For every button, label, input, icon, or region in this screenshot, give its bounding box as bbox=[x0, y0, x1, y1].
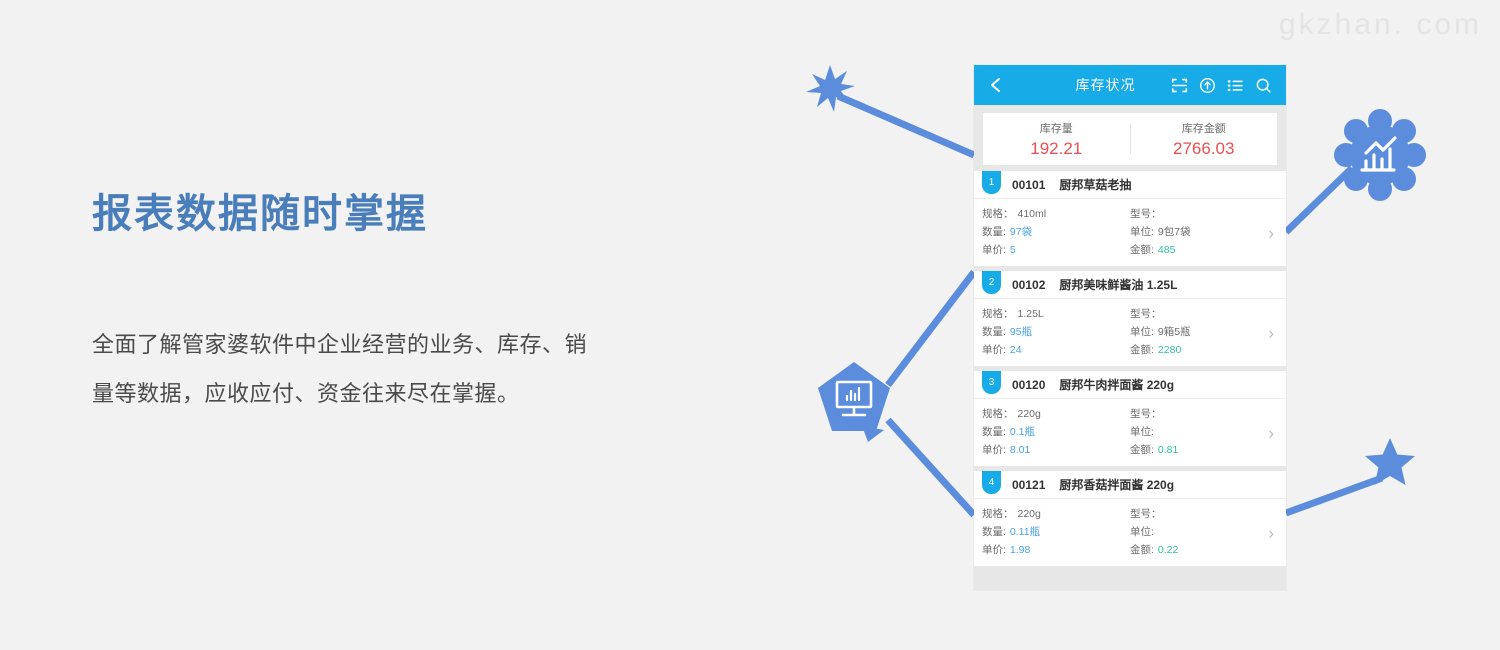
field-amount: 金额: 0.22 bbox=[1130, 541, 1278, 559]
field-qty: 数量: 97袋 bbox=[982, 223, 1130, 241]
field-spec: 规格： 220g bbox=[982, 405, 1130, 423]
field-label: 型号： bbox=[1130, 405, 1162, 423]
field-label: 单价: bbox=[982, 341, 1006, 359]
item-row-price: 单价: 24 金额: 2280 bbox=[982, 341, 1278, 359]
item-header: 4 00121 厨邦香菇拌面酱 220g bbox=[974, 471, 1286, 499]
field-label: 金额: bbox=[1130, 241, 1154, 259]
field-amount: 金额: 0.81 bbox=[1130, 441, 1278, 459]
field-label: 单价: bbox=[982, 241, 1006, 259]
connector-line-upper bbox=[888, 272, 974, 385]
chevron-right-icon[interactable]: › bbox=[1268, 324, 1274, 341]
field-value: 24 bbox=[1010, 341, 1022, 359]
page-description: 全面了解管家婆软件中企业经营的业务、库存、销量等数据，应收应付、资金往来尽在掌握… bbox=[92, 320, 592, 418]
item-body: 规格： 220g 型号： 数量: 0.11瓶 bbox=[974, 499, 1286, 566]
list-icon[interactable] bbox=[1227, 77, 1244, 94]
field-value: 220g bbox=[1018, 505, 1041, 523]
chevron-right-icon[interactable]: › bbox=[1268, 424, 1274, 441]
header-icon-group bbox=[1171, 77, 1272, 94]
field-label: 金额: bbox=[1130, 341, 1154, 359]
field-amount: 金额: 485 bbox=[1130, 241, 1278, 259]
site-watermark: gkzhan. com bbox=[1279, 8, 1482, 42]
item-row-qty: 数量: 0.11瓶 单位: bbox=[982, 523, 1278, 541]
field-value: 1.25L bbox=[1018, 305, 1044, 323]
field-model: 型号： bbox=[1130, 305, 1278, 323]
field-value: 485 bbox=[1158, 241, 1176, 259]
stat-value: 2766.03 bbox=[1131, 139, 1278, 159]
item-row-qty: 数量: 95瓶 单位: 9箱5瓶 bbox=[982, 323, 1278, 341]
field-value: 9包7袋 bbox=[1158, 223, 1191, 241]
field-model: 型号： bbox=[1130, 205, 1278, 223]
field-price: 单价: 1.98 bbox=[982, 541, 1130, 559]
field-value: 0.81 bbox=[1158, 441, 1178, 459]
item-body: 规格： 220g 型号： 数量: 0.1瓶 bbox=[974, 399, 1286, 466]
field-label: 单位: bbox=[1130, 423, 1154, 441]
item-row-qty: 数量: 97袋 单位: 9包7袋 bbox=[982, 223, 1278, 241]
item-row-price: 单价: 1.98 金额: 0.22 bbox=[982, 541, 1278, 559]
field-value: 5 bbox=[1010, 241, 1016, 259]
field-label: 金额: bbox=[1130, 441, 1154, 459]
field-price: 单价: 24 bbox=[982, 341, 1130, 359]
field-label: 数量: bbox=[982, 523, 1006, 541]
inventory-list: 1 00101 厨邦草菇老抽 规格： 410ml 型号： bbox=[974, 171, 1286, 590]
field-qty: 数量: 0.11瓶 bbox=[982, 523, 1130, 541]
stat-stock-amount: 库存金额 2766.03 bbox=[1131, 120, 1278, 159]
item-name: 厨邦香菇拌面酱 220g bbox=[1059, 476, 1174, 493]
item-code: 00120 bbox=[1012, 378, 1045, 392]
item-code: 00101 bbox=[1012, 178, 1045, 192]
item-index-badge: 4 bbox=[982, 471, 1001, 494]
item-body: 规格： 410ml 型号： 数量: 97袋 bbox=[974, 199, 1286, 266]
list-item[interactable]: 4 00121 厨邦香菇拌面酱 220g 规格： 220g 型号： bbox=[974, 471, 1286, 566]
item-name: 厨邦美味鲜酱油 1.25L bbox=[1059, 276, 1177, 293]
field-spec: 规格： 1.25L bbox=[982, 305, 1130, 323]
field-value: 220g bbox=[1018, 405, 1041, 423]
field-unit: 单位: bbox=[1130, 523, 1278, 541]
list-item[interactable]: 1 00101 厨邦草菇老抽 规格： 410ml 型号： bbox=[974, 171, 1286, 266]
field-label: 型号： bbox=[1130, 205, 1162, 223]
stat-value: 192.21 bbox=[983, 139, 1130, 159]
field-value: 95瓶 bbox=[1010, 323, 1032, 341]
list-item[interactable]: 3 00120 厨邦牛肉拌面酱 220g 规格： 220g 型号： bbox=[974, 371, 1286, 466]
field-label: 规格： bbox=[982, 305, 1014, 323]
item-name: 厨邦草菇老抽 bbox=[1059, 176, 1131, 193]
item-row-spec: 规格： 1.25L 型号： bbox=[982, 305, 1278, 323]
item-header: 1 00101 厨邦草菇老抽 bbox=[974, 171, 1286, 199]
monitor-badge-icon bbox=[818, 362, 890, 442]
list-bottom-space bbox=[974, 571, 1286, 590]
field-label: 单位: bbox=[1130, 223, 1154, 241]
star-icon bbox=[1365, 438, 1415, 485]
search-icon[interactable] bbox=[1255, 77, 1272, 94]
stat-label: 库存金额 bbox=[1131, 120, 1278, 136]
field-price: 单价: 5 bbox=[982, 241, 1130, 259]
item-name: 厨邦牛肉拌面酱 220g bbox=[1059, 376, 1174, 393]
field-label: 单价: bbox=[982, 541, 1006, 559]
connector-line-right-top bbox=[1286, 168, 1352, 232]
field-price: 单价: 8.01 bbox=[982, 441, 1130, 459]
chart-badge-icon bbox=[1334, 109, 1426, 201]
item-code: 00102 bbox=[1012, 278, 1045, 292]
field-unit: 单位: 9包7袋 bbox=[1130, 223, 1278, 241]
field-label: 规格： bbox=[982, 205, 1014, 223]
field-value: 8.01 bbox=[1010, 441, 1030, 459]
field-qty: 数量: 0.1瓶 bbox=[982, 423, 1130, 441]
app-header: 库存状况 bbox=[974, 65, 1286, 105]
field-label: 规格： bbox=[982, 505, 1014, 523]
field-value: 0.1瓶 bbox=[1010, 423, 1035, 441]
field-unit: 单位: 9箱5瓶 bbox=[1130, 323, 1278, 341]
field-value: 0.11瓶 bbox=[1010, 523, 1040, 541]
field-spec: 规格： 220g bbox=[982, 505, 1130, 523]
field-label: 型号： bbox=[1130, 505, 1162, 523]
field-unit: 单位: bbox=[1130, 423, 1278, 441]
field-label: 单价: bbox=[982, 441, 1006, 459]
chevron-left-icon[interactable] bbox=[986, 75, 1006, 95]
item-header: 3 00120 厨邦牛肉拌面酱 220g bbox=[974, 371, 1286, 399]
item-row-qty: 数量: 0.1瓶 单位: bbox=[982, 423, 1278, 441]
field-value: 1.98 bbox=[1010, 541, 1030, 559]
item-row-price: 单价: 5 金额: 485 bbox=[982, 241, 1278, 259]
field-value: 97袋 bbox=[1010, 223, 1032, 241]
page-stage: gkzhan. com 报表数据随时掌握 全面了解管家婆软件中企业经营的业务、库… bbox=[0, 0, 1500, 650]
field-model: 型号： bbox=[1130, 505, 1278, 523]
field-label: 规格： bbox=[982, 405, 1014, 423]
field-spec: 规格： 410ml bbox=[982, 205, 1130, 223]
item-header: 2 00102 厨邦美味鲜酱油 1.25L bbox=[974, 271, 1286, 299]
page-title: 报表数据随时掌握 bbox=[92, 190, 612, 238]
stat-stock-quantity: 库存量 192.21 bbox=[983, 120, 1130, 159]
item-row-spec: 规格： 410ml 型号： bbox=[982, 205, 1278, 223]
field-label: 单位: bbox=[1130, 323, 1154, 341]
field-value: 9箱5瓶 bbox=[1158, 323, 1191, 341]
connector-line-right-bottom bbox=[1286, 478, 1382, 513]
field-value: 2280 bbox=[1158, 341, 1181, 359]
item-index-badge: 3 bbox=[982, 371, 1001, 394]
connector-line-lower bbox=[888, 420, 974, 515]
chevron-right-icon[interactable]: › bbox=[1268, 224, 1274, 241]
field-label: 数量: bbox=[982, 223, 1006, 241]
scan-frame-icon[interactable] bbox=[1171, 77, 1188, 94]
arrow-up-circle-icon[interactable] bbox=[1199, 77, 1216, 94]
item-code: 00121 bbox=[1012, 478, 1045, 492]
item-body: 规格： 1.25L 型号： 数量: 95瓶 bbox=[974, 299, 1286, 366]
field-amount: 金额: 2280 bbox=[1130, 341, 1278, 359]
list-item[interactable]: 2 00102 厨邦美味鲜酱油 1.25L 规格： 1.25L 型号： bbox=[974, 271, 1286, 366]
field-label: 数量: bbox=[982, 423, 1006, 441]
item-row-spec: 规格： 220g 型号： bbox=[982, 405, 1278, 423]
field-label: 型号： bbox=[1130, 305, 1162, 323]
field-value: 410ml bbox=[1018, 205, 1047, 223]
field-label: 单位: bbox=[1130, 523, 1154, 541]
phone-mockup: 库存状况 bbox=[974, 65, 1286, 590]
item-index-badge: 1 bbox=[982, 171, 1001, 194]
field-qty: 数量: 95瓶 bbox=[982, 323, 1130, 341]
sparkle-burst-icon bbox=[806, 65, 855, 112]
item-index-badge: 2 bbox=[982, 271, 1001, 294]
item-row-spec: 规格： 220g 型号： bbox=[982, 505, 1278, 523]
field-value: 0.22 bbox=[1158, 541, 1178, 559]
stats-panel: 库存量 192.21 库存金额 2766.03 bbox=[983, 113, 1277, 165]
connector-line-top bbox=[838, 96, 974, 155]
field-label: 金额: bbox=[1130, 541, 1154, 559]
app-title: 库存状况 bbox=[1006, 75, 1171, 95]
stat-label: 库存量 bbox=[983, 120, 1130, 136]
marketing-copy: 报表数据随时掌握 全面了解管家婆软件中企业经营的业务、库存、销量等数据，应收应付… bbox=[92, 190, 612, 418]
item-row-price: 单价: 8.01 金额: 0.81 bbox=[982, 441, 1278, 459]
field-model: 型号： bbox=[1130, 405, 1278, 423]
chevron-right-icon[interactable]: › bbox=[1268, 524, 1274, 541]
field-label: 数量: bbox=[982, 323, 1006, 341]
